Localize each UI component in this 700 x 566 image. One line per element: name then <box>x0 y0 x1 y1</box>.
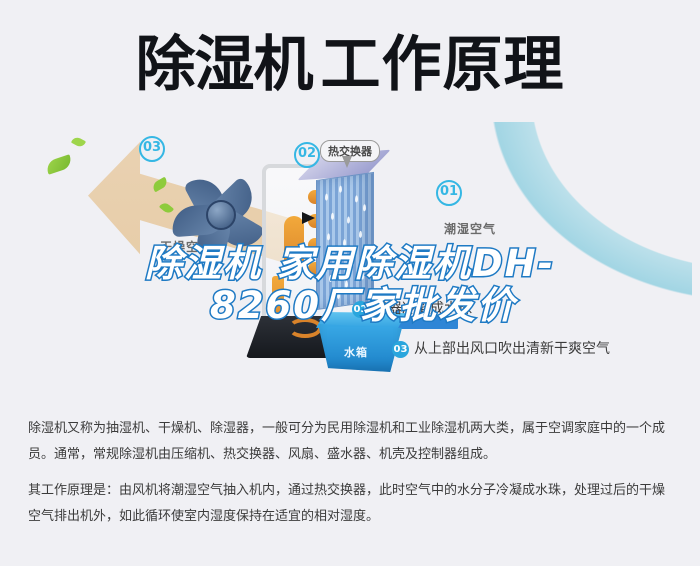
condensation-droplet <box>351 260 354 267</box>
fan-hub <box>206 200 236 230</box>
condensation-droplet <box>327 233 330 240</box>
compressor-cylinder <box>284 216 304 274</box>
condensation-droplet <box>339 185 342 192</box>
step-caption-02-text: 发器冷凝成水珠 <box>374 301 472 317</box>
description-paragraph-1: 除湿机又称为抽湿机、干燥机、除湿器，一般可分为民用除湿机和工业除湿机两大类，属于… <box>28 416 676 468</box>
flow-arrow-right-icon <box>302 212 315 224</box>
heat-exchanger-block <box>316 172 374 310</box>
badge-01: 01 <box>436 180 462 206</box>
condensation-droplet <box>343 239 346 246</box>
badge-03: 03 <box>139 136 165 162</box>
condensation-droplet <box>359 231 362 238</box>
condensation-droplet <box>337 292 340 299</box>
condensation-droplet <box>363 204 366 211</box>
condensation-droplet <box>325 193 328 200</box>
condensation-droplet <box>361 272 364 279</box>
page-title: 除湿机工作原理 <box>0 30 700 100</box>
condensation-droplet <box>347 216 350 223</box>
step-number-badge: 02 <box>352 301 369 318</box>
description-block: 除湿机又称为抽湿机、干燥机、除湿器，一般可分为民用除湿机和工业除湿机两大类，属于… <box>28 416 676 540</box>
page-title-part2: 工作原理 <box>321 30 565 100</box>
step-number-badge: 03 <box>392 341 409 358</box>
condensation-droplet <box>345 281 348 288</box>
step-caption-03: 03从上部出风口吹出清新干爽空气 <box>392 338 610 358</box>
description-paragraph-2: 其工作原理是：由风机将潮湿空气抽入机内，通过热交换器，此时空气中的水分子冷凝成水… <box>28 478 676 530</box>
step-caption-02: 02发器冷凝成水珠 <box>352 298 472 318</box>
condensation-droplet <box>365 246 368 253</box>
water-tank-label: 水箱 <box>344 344 368 360</box>
callout-tail-icon <box>342 156 352 168</box>
page-title-part1: 除湿机 <box>136 30 313 100</box>
badge-02: 02 <box>294 142 320 168</box>
humid-air-label: 潮湿空气 <box>444 220 496 237</box>
infographic-page: 除湿机工作原理 01 潮湿空气 干燥空气 03 <box>0 0 700 566</box>
condensation-droplet <box>331 213 334 220</box>
condensation-droplet <box>329 275 332 282</box>
condensation-droplet <box>335 254 338 261</box>
condensation-droplet <box>355 195 358 202</box>
step-caption-03-text: 从上部出风口吹出清新干爽空气 <box>414 341 610 357</box>
dehumidifier-diagram: 01 潮湿空气 干燥空气 03 <box>0 120 700 410</box>
